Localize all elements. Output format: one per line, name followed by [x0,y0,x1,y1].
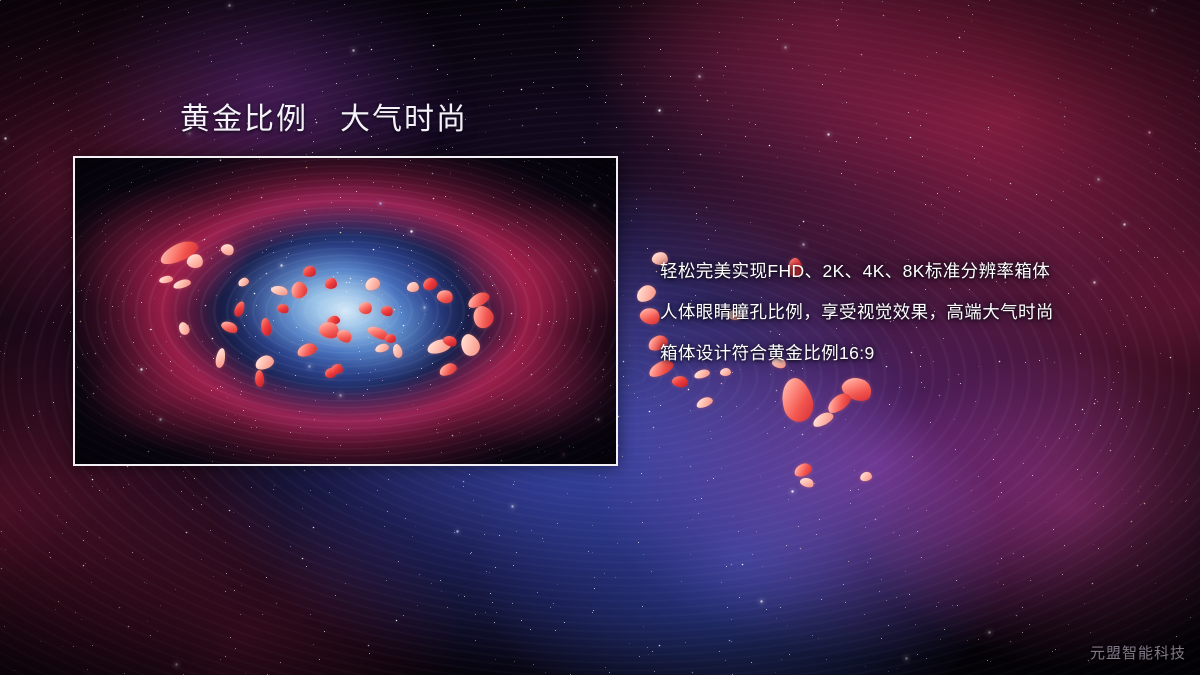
image-vignette [75,158,616,464]
watermark: 元盟智能科技 [1090,642,1186,663]
rose-nebula-image [75,158,616,464]
page-title: 黄金比例 大气时尚 [180,101,468,139]
presentation-slide: 黄金比例 大气时尚 轻松完美实现FHD、2K、4K、8K标准分辨率箱体 人体眼睛… [0,0,1200,675]
description-line-1: 轻松完美实现FHD、2K、4K、8K标准分辨率箱体 [660,258,1160,285]
description-line-2: 人体眼睛瞳孔比例，享受视觉效果，高端大气时尚 [660,299,1160,326]
description-line-3: 箱体设计符合黄金比例16:9 [660,340,1160,367]
description-block: 轻松完美实现FHD、2K、4K、8K标准分辨率箱体 人体眼睛瞳孔比例，享受视觉效… [660,258,1160,367]
framed-image [73,156,618,466]
